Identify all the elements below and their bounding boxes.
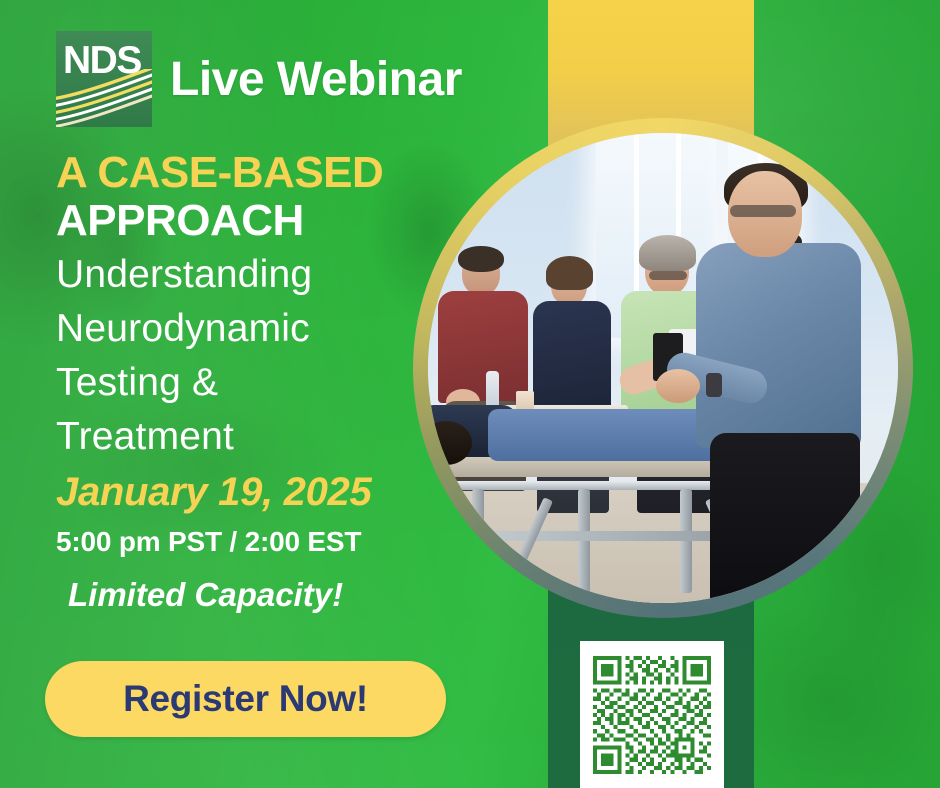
- photo-ring: [413, 118, 913, 618]
- qr-code-icon: [593, 656, 711, 774]
- live-webinar-tagline: Live Webinar: [170, 52, 462, 107]
- event-date: January 19, 2025: [56, 470, 371, 515]
- headline-line-2: APPROACH: [56, 196, 304, 246]
- subtitle-line-4: Treatment: [56, 410, 312, 464]
- subtitle-line-1: Understanding: [56, 248, 312, 302]
- classroom-photo: [428, 133, 898, 603]
- subtitle-line-2: Neurodynamic: [56, 302, 312, 356]
- register-now-button[interactable]: Register Now!: [45, 661, 446, 737]
- nds-logo: NDS: [56, 31, 152, 127]
- register-now-label: Register Now!: [123, 678, 368, 720]
- webinar-poster: NDS Live Webinar A CASE-BASED APPROACH U…: [0, 0, 940, 788]
- event-time: 5:00 pm PST / 2:00 EST: [56, 526, 361, 558]
- subtitle-block: Understanding Neurodynamic Testing & Tre…: [56, 248, 312, 464]
- limited-capacity-note: Limited Capacity!: [68, 576, 343, 614]
- subtitle-line-3: Testing &: [56, 356, 312, 410]
- nds-logo-waves-icon: [56, 69, 152, 127]
- headline-line-1: A CASE-BASED: [56, 148, 383, 198]
- qr-code[interactable]: [580, 641, 724, 788]
